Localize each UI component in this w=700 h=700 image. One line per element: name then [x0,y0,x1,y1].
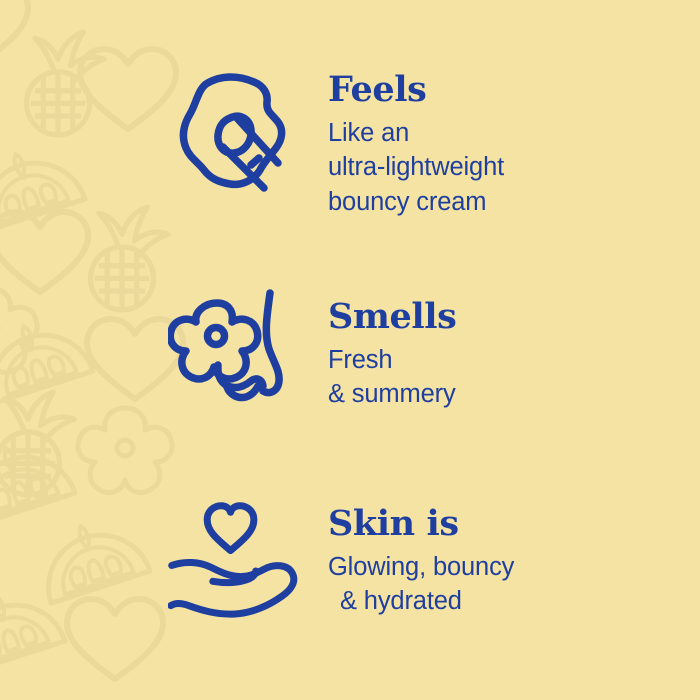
benefit-body-line: ultra-lightweight [328,150,504,185]
benefit-row-feels: Feels Like an ultra-lightweight bouncy c… [168,62,504,220]
benefit-body-line: & summery [328,377,456,412]
benefit-body-smells: Fresh & summery [328,343,456,412]
benefit-heading-smells: Smells [328,299,456,336]
benefit-row-skin-is: Skin is Glowing, bouncy & hydrated [168,490,514,625]
benefit-body-line: & hydrated [328,584,514,619]
product-benefits-infographic: Feels Like an ultra-lightweight bouncy c… [0,0,700,700]
benefit-body-line: bouncy cream [328,185,504,220]
benefit-heading-feels: Feels [328,72,504,109]
benefit-text-skin-is: Skin is Glowing, bouncy & hydrated [308,490,514,619]
finger-touching-cream-blob-icon [168,66,308,206]
benefit-icon-wrapper-feels [168,62,308,206]
flower-and-nose-icon [168,287,308,417]
heart-in-open-hand-icon [168,490,308,625]
benefit-heading-skin-is: Skin is [328,506,514,543]
benefit-text-smells: Smells Fresh & summery [308,285,456,412]
benefit-body-line: Glowing, bouncy [328,550,514,585]
benefit-body-line: Fresh [328,343,456,378]
benefit-body-skin-is: Glowing, bouncy & hydrated [328,550,514,619]
benefit-row-smells: Smells Fresh & summery [168,285,456,417]
benefit-icon-wrapper-smells [168,285,308,417]
benefit-body-feels: Like an ultra-lightweight bouncy cream [328,116,504,220]
benefit-body-line: Like an [328,116,504,151]
benefit-icon-wrapper-skin-is [168,490,308,625]
benefit-text-feels: Feels Like an ultra-lightweight bouncy c… [308,62,504,220]
